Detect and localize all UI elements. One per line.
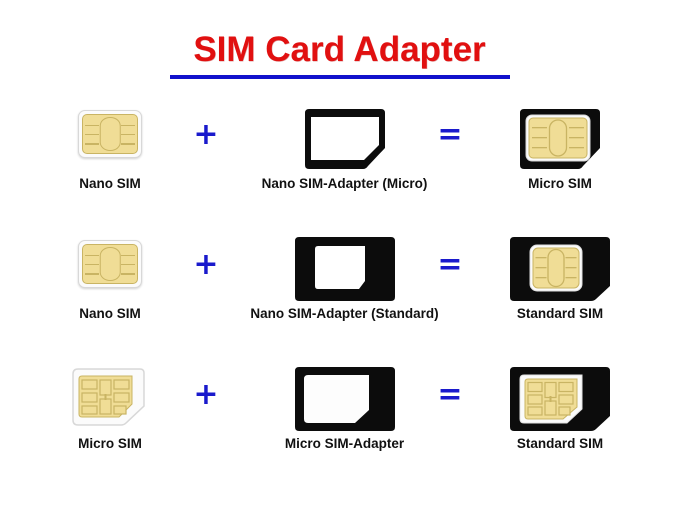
standard-sim-from-nano-icon <box>508 236 612 302</box>
row-nano-to-micro: Nano SIM + Nano SIM-Adapter (Micro) = <box>0 100 679 210</box>
standard-sim-from-nano-art <box>470 230 650 306</box>
micro-sim-card-label: Micro SIM <box>30 436 190 451</box>
title-block: SIM Card Adapter <box>0 30 679 79</box>
row-micro-to-standard: Micro SIM + Micro SIM-Adapter = <box>0 360 679 470</box>
nano-sim-label: Nano SIM <box>30 176 190 191</box>
standard-sim-from-micro-label: Standard SIM <box>470 436 650 451</box>
micro-sim-result-cell: Micro SIM <box>470 100 650 210</box>
micro-sim-result-label: Micro SIM <box>470 176 650 191</box>
standard-sim-result-label: Standard SIM <box>470 306 650 321</box>
operator-plus-cell-1: + <box>176 100 236 210</box>
title-underline <box>170 75 510 79</box>
nano-sim-cell: Nano SIM <box>30 100 190 210</box>
plus-icon: + <box>176 378 236 412</box>
standard-sim-from-micro-icon <box>508 366 612 432</box>
plus-icon: + <box>176 118 236 152</box>
standard-sim-from-micro-cell: Standard SIM <box>470 360 650 470</box>
nano-adapter-micro-icon <box>302 108 388 170</box>
micro-adapter-standard-icon <box>293 366 397 432</box>
micro-sim-card-cell: Micro SIM <box>30 360 190 470</box>
micro-sim-card-art <box>30 360 190 436</box>
operator-plus-cell-2: + <box>176 230 236 340</box>
page-title: SIM Card Adapter <box>0 30 679 70</box>
operator-plus-cell-3: + <box>176 360 236 470</box>
standard-sim-result-cell: Standard SIM <box>470 230 650 340</box>
standard-sim-from-micro-art <box>470 360 650 436</box>
nano-sim-chip-art <box>30 100 190 176</box>
row-nano-to-standard: Nano SIM + Nano SIM-Adapter (Standard) = <box>0 230 679 340</box>
micro-sim-assembled-art <box>470 100 650 176</box>
nano-adapter-standard-icon <box>293 236 397 302</box>
nano-sim-label-2: Nano SIM <box>30 306 190 321</box>
micro-sim-card-icon <box>70 366 150 428</box>
micro-sim-assembled-icon <box>517 108 603 170</box>
plus-icon: + <box>176 248 236 282</box>
nano-sim-chip-art-2 <box>30 230 190 306</box>
nano-sim-cell-2: Nano SIM <box>30 230 190 340</box>
